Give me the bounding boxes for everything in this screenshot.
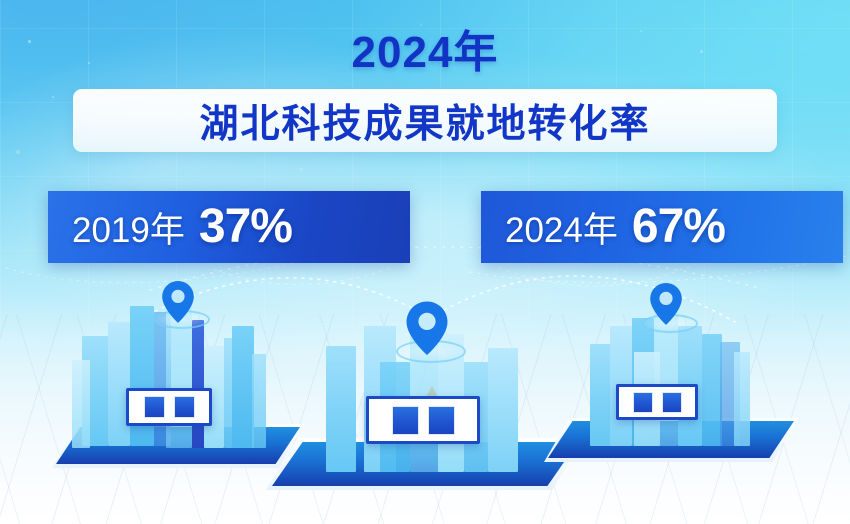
city-cluster-center	[272, 290, 582, 490]
city-cluster-left	[56, 288, 306, 468]
stats-row: 2019年 37% 2024年 67%	[0, 191, 850, 263]
location-pin-icon	[649, 282, 683, 326]
building-label-card-icon	[126, 388, 212, 426]
stat-panel-2024: 2024年 67%	[481, 191, 843, 263]
page-title-year: 2024年	[0, 30, 850, 76]
subtitle-bar: 湖北科技成果就地转化率	[73, 89, 777, 152]
building	[734, 352, 750, 446]
stat-2019-year-label: 2019年	[72, 202, 185, 253]
building	[252, 354, 266, 448]
infographic-canvas: 2024年 湖北科技成果就地转化率 2019年 37% 2024年 67%	[0, 0, 850, 524]
label-card-block	[392, 406, 419, 435]
building-label-card-icon	[616, 384, 698, 420]
city-cluster-right	[548, 286, 800, 462]
stat-2019-value: 37%	[199, 203, 292, 251]
building	[326, 346, 356, 472]
location-pin-icon	[405, 300, 449, 356]
building	[72, 360, 90, 448]
header: 2024年	[0, 0, 850, 76]
label-card-block	[662, 392, 682, 413]
label-card-block	[144, 396, 165, 418]
building	[702, 334, 722, 446]
label-card-block	[633, 392, 653, 413]
building	[488, 348, 518, 472]
page-subtitle: 湖北科技成果就地转化率	[199, 93, 650, 149]
label-card-block	[428, 406, 455, 435]
label-card-block	[174, 396, 195, 418]
building	[232, 326, 254, 448]
stat-2024-value: 67%	[632, 203, 725, 251]
stat-2024-year-label: 2024年	[505, 202, 618, 253]
building-label-card-icon	[366, 396, 480, 444]
building	[108, 322, 130, 446]
building	[192, 320, 204, 448]
location-pin-icon	[161, 280, 195, 324]
stat-panel-2019: 2019年 37%	[48, 191, 410, 263]
